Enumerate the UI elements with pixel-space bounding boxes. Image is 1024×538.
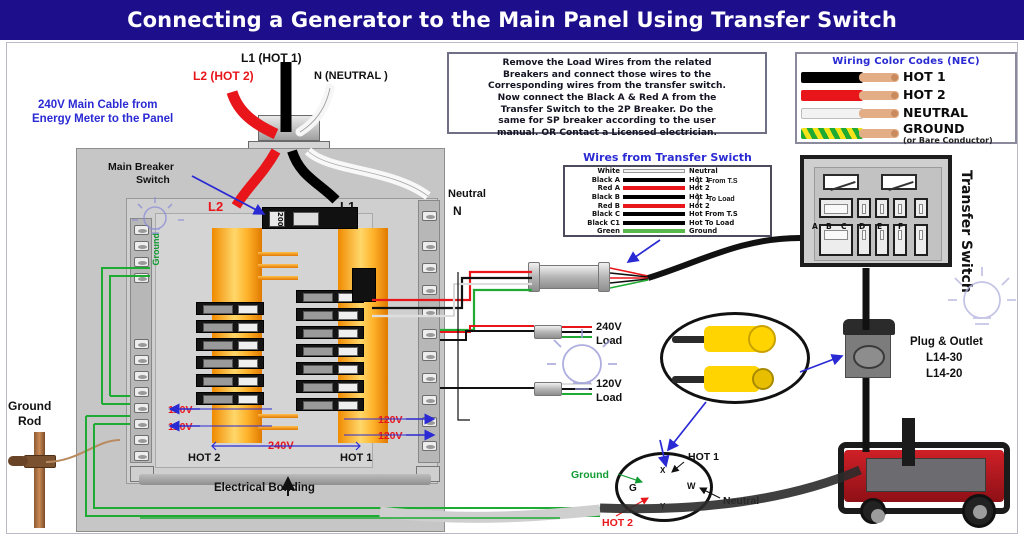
ts-wire-swatch — [623, 186, 685, 190]
table-row: Black A Hot 1 — [565, 176, 770, 185]
branch-breaker[interactable] — [196, 356, 264, 369]
diagram-canvas: Connecting a Generator to the Main Panel… — [0, 0, 1024, 538]
ts-wire-function: Hot From T.S — [689, 210, 745, 218]
ts-breaker-top-double[interactable] — [819, 198, 853, 218]
transfer-switch-title: Transfer Switch — [958, 170, 974, 293]
color-code-row: NEUTRAL — [801, 104, 1011, 122]
plug-cord-upper — [672, 336, 708, 343]
inlet-receptacle-face[interactable] — [853, 345, 885, 369]
color-code-row: HOT 2 — [801, 86, 1011, 104]
branch-breaker[interactable] — [296, 362, 364, 375]
voltage-120-right-bottom: 120V — [378, 431, 403, 443]
plug-cord-lower — [672, 376, 708, 383]
ground-rod-label-line2: Rod — [18, 415, 41, 428]
branch-breaker[interactable] — [296, 398, 364, 411]
generator-wheel — [962, 494, 996, 528]
table-row: Red B Hot 2 — [565, 201, 770, 210]
ts-wire-name: Black C — [567, 210, 623, 218]
load-120-label: 120V — [596, 378, 622, 390]
branch-breaker[interactable] — [196, 338, 264, 351]
color-code-label: HOT 2 — [903, 87, 946, 102]
table-row: Green Ground — [565, 227, 770, 236]
ground-rod-clamp — [24, 455, 56, 468]
load-240-sublabel: Load — [596, 335, 622, 347]
face-y-pin-label: Y — [660, 503, 665, 512]
panel-neutral-label: Neutral — [448, 188, 486, 200]
hot1-bus-label: HOT 1 — [340, 452, 372, 464]
note-line-4: Transfer Switch to the 2P Breaker. Do th… — [455, 105, 759, 117]
service-hub — [258, 115, 320, 141]
brace-to-load-label: To Load — [708, 196, 735, 204]
note-line-2: Corresponding wires from the transfer sw… — [455, 81, 759, 93]
color-code-label: GROUND — [903, 121, 993, 136]
wire-icon — [801, 72, 897, 83]
brace-from-ts-label: From T.S — [708, 178, 738, 186]
ground-bus-rail — [130, 218, 152, 463]
voltage-240-label: 240V — [268, 440, 294, 452]
bus-stab — [258, 414, 298, 418]
conduit-connector-240 — [534, 325, 562, 339]
bus-stab — [258, 276, 298, 280]
ts-breaker-letter-b: B — [826, 222, 832, 231]
hot2-bus-label: HOT 2 — [188, 452, 220, 464]
face-hot2-label: HOT 2 — [602, 518, 633, 530]
ground-rod-clamp-bolt — [8, 456, 28, 466]
ts-wire-swatch — [623, 229, 685, 233]
panel-l2-label: L2 — [208, 200, 223, 214]
main-breaker-handle[interactable] — [293, 212, 319, 226]
bus-stab — [258, 264, 298, 268]
ts-wires-table: White Neutral Black A Hot 1 Red A Hot 2 … — [563, 165, 772, 237]
ts-wire-function: Hot To Load — [689, 219, 745, 227]
face-ground-label: Ground — [571, 470, 609, 482]
page-title-bar: Connecting a Generator to the Main Panel… — [0, 0, 1024, 40]
wire-icon — [801, 128, 897, 139]
table-row: White Neutral — [565, 167, 770, 176]
ts-breaker-top-3[interactable] — [893, 198, 907, 218]
main-cable-label-line1: 240V Main Cable from — [38, 99, 158, 112]
ts-wire-name: Black C1 — [567, 219, 623, 227]
main-breaker-amp-rating: 200 — [269, 211, 285, 227]
branch-breaker[interactable] — [296, 308, 364, 321]
brace-to-load: } — [696, 191, 700, 205]
ts-wire-swatch — [623, 221, 685, 225]
ts-wire-swatch — [623, 204, 685, 208]
bus-bar-l2 — [212, 228, 262, 443]
ts-breaker-top-4[interactable] — [914, 198, 928, 218]
ts-breaker-letter-a: A — [812, 222, 818, 231]
instruction-note: Remove the Load Wires from the related B… — [447, 52, 767, 134]
branch-breaker[interactable] — [196, 302, 264, 315]
l1-hot1-label: L1 (HOT 1) — [241, 52, 302, 65]
color-code-label: HOT 1 — [903, 69, 946, 84]
wire-icon — [801, 108, 897, 119]
plug-l1430-label: L14-30 — [926, 352, 962, 365]
branch-breaker[interactable] — [296, 344, 364, 357]
branch-breaker[interactable] — [196, 374, 264, 387]
bus-stab — [258, 426, 298, 430]
panel-ground-label: Ground — [152, 233, 162, 266]
panel-l1-label: L1 — [340, 200, 355, 214]
table-row: Black B Hot 1 — [565, 193, 770, 202]
portable-generator — [830, 432, 1020, 532]
ts-table-heading: Wires from Transfer Swicth — [563, 151, 772, 164]
brace-from-ts: } — [696, 174, 700, 188]
face-g-pin-label: G — [629, 483, 637, 494]
branch-breaker[interactable] — [296, 380, 364, 393]
wire-icon — [801, 90, 897, 101]
load-240-label: 240V — [596, 321, 622, 333]
color-code-label: NEUTRAL — [903, 105, 968, 120]
ts-wire-swatch — [623, 212, 685, 216]
ts-meter-right — [881, 174, 917, 190]
inlet-box-cover[interactable] — [843, 319, 895, 335]
ts-meter-left — [823, 174, 859, 190]
table-row: Black C Hot From T.S — [565, 210, 770, 219]
ts-breaker-letter-d: D — [859, 222, 865, 231]
ts-wire-name: Black A — [567, 176, 623, 184]
panel-n-label: N — [453, 205, 462, 218]
note-line-6: manual. OR Contact a Licensed electricia… — [455, 128, 759, 140]
conduit-connector-120 — [534, 382, 562, 396]
ts-breaker-top-2[interactable] — [875, 198, 889, 218]
load-120-sublabel: Load — [596, 392, 622, 404]
twist-lock-male-pins — [752, 368, 774, 390]
branch-breaker[interactable] — [196, 392, 264, 405]
voltage-120-left-top: 120V — [168, 405, 193, 417]
note-line-1: Breakers and connect those wires to the — [455, 70, 759, 82]
page-title: Connecting a Generator to the Main Panel… — [127, 8, 897, 32]
transfer-switch-panel[interactable] — [800, 155, 952, 267]
face-hot1-label: HOT 1 — [688, 452, 719, 464]
note-line-5: same for SP breaker according to the use… — [455, 116, 759, 128]
ts-wire-name: Red B — [567, 202, 623, 210]
ts-wire-swatch — [623, 195, 685, 199]
branch-breaker[interactable] — [296, 326, 364, 339]
color-codes-heading: Wiring Color Codes (NEC) — [801, 56, 1011, 67]
voltage-120-right-top: 120V — [378, 415, 403, 427]
face-neutral-label: Neutral — [723, 496, 759, 508]
wiring-color-codes-legend: Wiring Color Codes (NEC) HOT 1 HOT 2 NEU… — [795, 52, 1017, 144]
color-code-sublabel: (or Bare Conductor) — [903, 136, 993, 145]
generator-inlet-box[interactable] — [845, 330, 891, 378]
generator-exhaust — [902, 418, 915, 466]
l2-hot2-label: L2 (HOT 2) — [193, 70, 254, 83]
neutral-bus-rail — [418, 200, 440, 463]
ts-wire-name: White — [567, 167, 623, 175]
transfer-switch-interior — [814, 167, 942, 261]
color-code-row: GROUND (or Bare Conductor) — [801, 122, 1011, 144]
ts-wire-name: Black B — [567, 193, 623, 201]
note-line-0: Remove the Load Wires from the related — [455, 58, 759, 70]
color-code-row: HOT 1 — [801, 68, 1011, 86]
ts-breaker-top-1[interactable] — [857, 198, 871, 218]
bus-stab — [258, 252, 298, 256]
plug-outlet-label: Plug & Outlet — [910, 336, 983, 349]
main-breaker-label-line2: Switch — [136, 175, 170, 187]
ts-wire-swatch — [623, 169, 685, 173]
ts-breaker-bottom-double[interactable] — [819, 224, 853, 256]
ts-breaker-letter-c: C — [841, 222, 847, 231]
ts-wire-name: Red A — [567, 184, 623, 192]
n-neutral-label: N (NEUTRAL ) — [314, 70, 388, 82]
ts-wire-name: Green — [567, 227, 623, 235]
table-row: Black C1 Hot To Load — [565, 219, 770, 228]
conduit-collar-b — [598, 262, 610, 292]
backfeed-2p-breaker[interactable] — [352, 268, 376, 302]
note-line-3: Now connect the Black A & Red A from the — [455, 93, 759, 105]
ground-rod — [34, 432, 45, 528]
conduit-connector-main — [536, 265, 602, 289]
twist-lock-female-face — [748, 325, 776, 353]
voltage-120-left-bottom: 120V — [168, 422, 193, 434]
face-w-pin-label: W — [687, 482, 696, 492]
main-breaker-label-line1: Main Breaker — [108, 162, 174, 174]
branch-breaker[interactable] — [196, 320, 264, 333]
conduit-collar-a — [528, 262, 540, 292]
ground-rod-label-line1: Ground — [8, 400, 51, 413]
table-row: Red A Hot 2 — [565, 184, 770, 193]
ts-wire-function: Ground — [689, 227, 745, 235]
electrical-bonding-label: Electrical Bonding — [214, 482, 315, 495]
ts-breaker-letter-f: F — [898, 222, 903, 231]
plug-l1420-label: L14-20 — [926, 368, 962, 381]
main-cable-label-line2: Energy Meter to the Panel — [32, 113, 173, 126]
ts-breaker-letter-e: E — [877, 222, 882, 231]
face-x-pin-label: X — [660, 467, 665, 476]
generator-wheel — [860, 498, 886, 524]
ts-wire-swatch — [623, 178, 685, 182]
generator-control-panel — [866, 458, 986, 492]
ts-breaker-bottom-4[interactable] — [914, 224, 928, 256]
